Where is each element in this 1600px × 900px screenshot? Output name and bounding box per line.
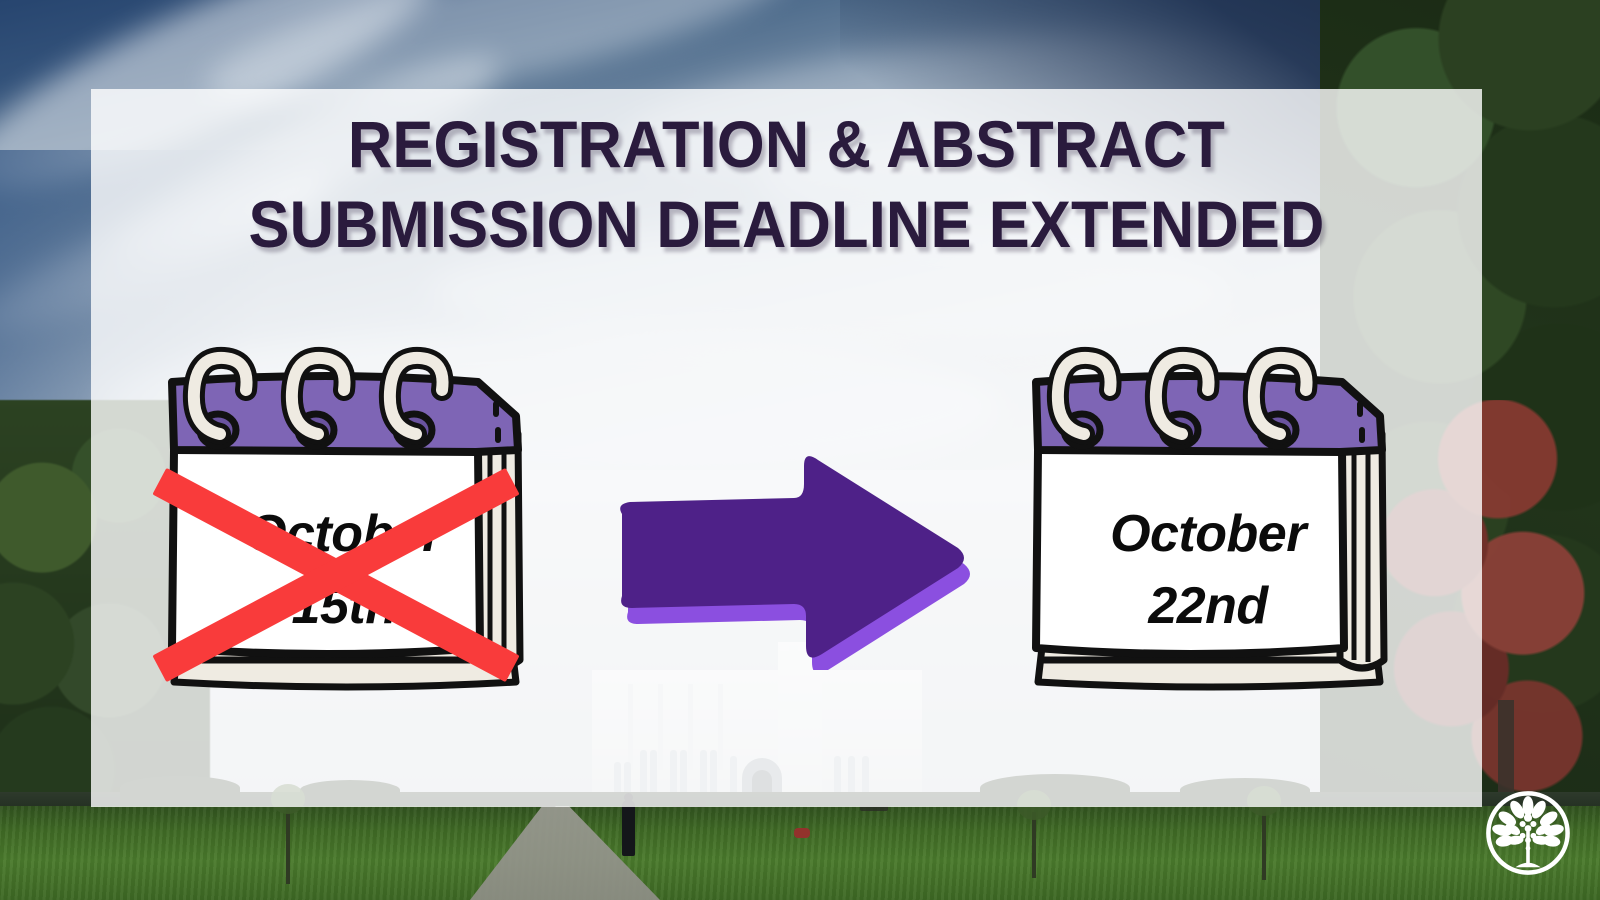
calendar-new-deadline: October 22nd xyxy=(1022,330,1402,715)
calendar-old-deadline: October 15th xyxy=(158,330,538,715)
lawn xyxy=(0,806,1600,900)
calendar-date-old: October 15th xyxy=(198,498,490,642)
new-month: October xyxy=(1110,505,1306,563)
calendar-date-new: October 22nd xyxy=(1062,498,1354,642)
person-walking xyxy=(622,800,635,856)
title-line-1: REGISTRATION & ABSTRACT xyxy=(140,104,1434,184)
new-day: 22nd xyxy=(1062,570,1354,642)
page-title: REGISTRATION & ABSTRACT SUBMISSION DEADL… xyxy=(140,104,1434,264)
person-seated xyxy=(794,828,810,838)
logo-tree xyxy=(1491,796,1565,867)
sapling xyxy=(1262,808,1266,880)
old-day: 15th xyxy=(198,570,490,642)
announcement-graphic: REGISTRATION & ABSTRACT SUBMISSION DEADL… xyxy=(0,0,1600,900)
sapling xyxy=(286,806,290,884)
sapling xyxy=(1032,812,1036,878)
right-arrow-icon xyxy=(586,440,976,670)
old-month: October xyxy=(246,505,442,563)
arrow-body xyxy=(620,456,964,657)
title-line-2: SUBMISSION DEADLINE EXTENDED xyxy=(140,184,1434,264)
tree-logo xyxy=(1483,788,1573,878)
